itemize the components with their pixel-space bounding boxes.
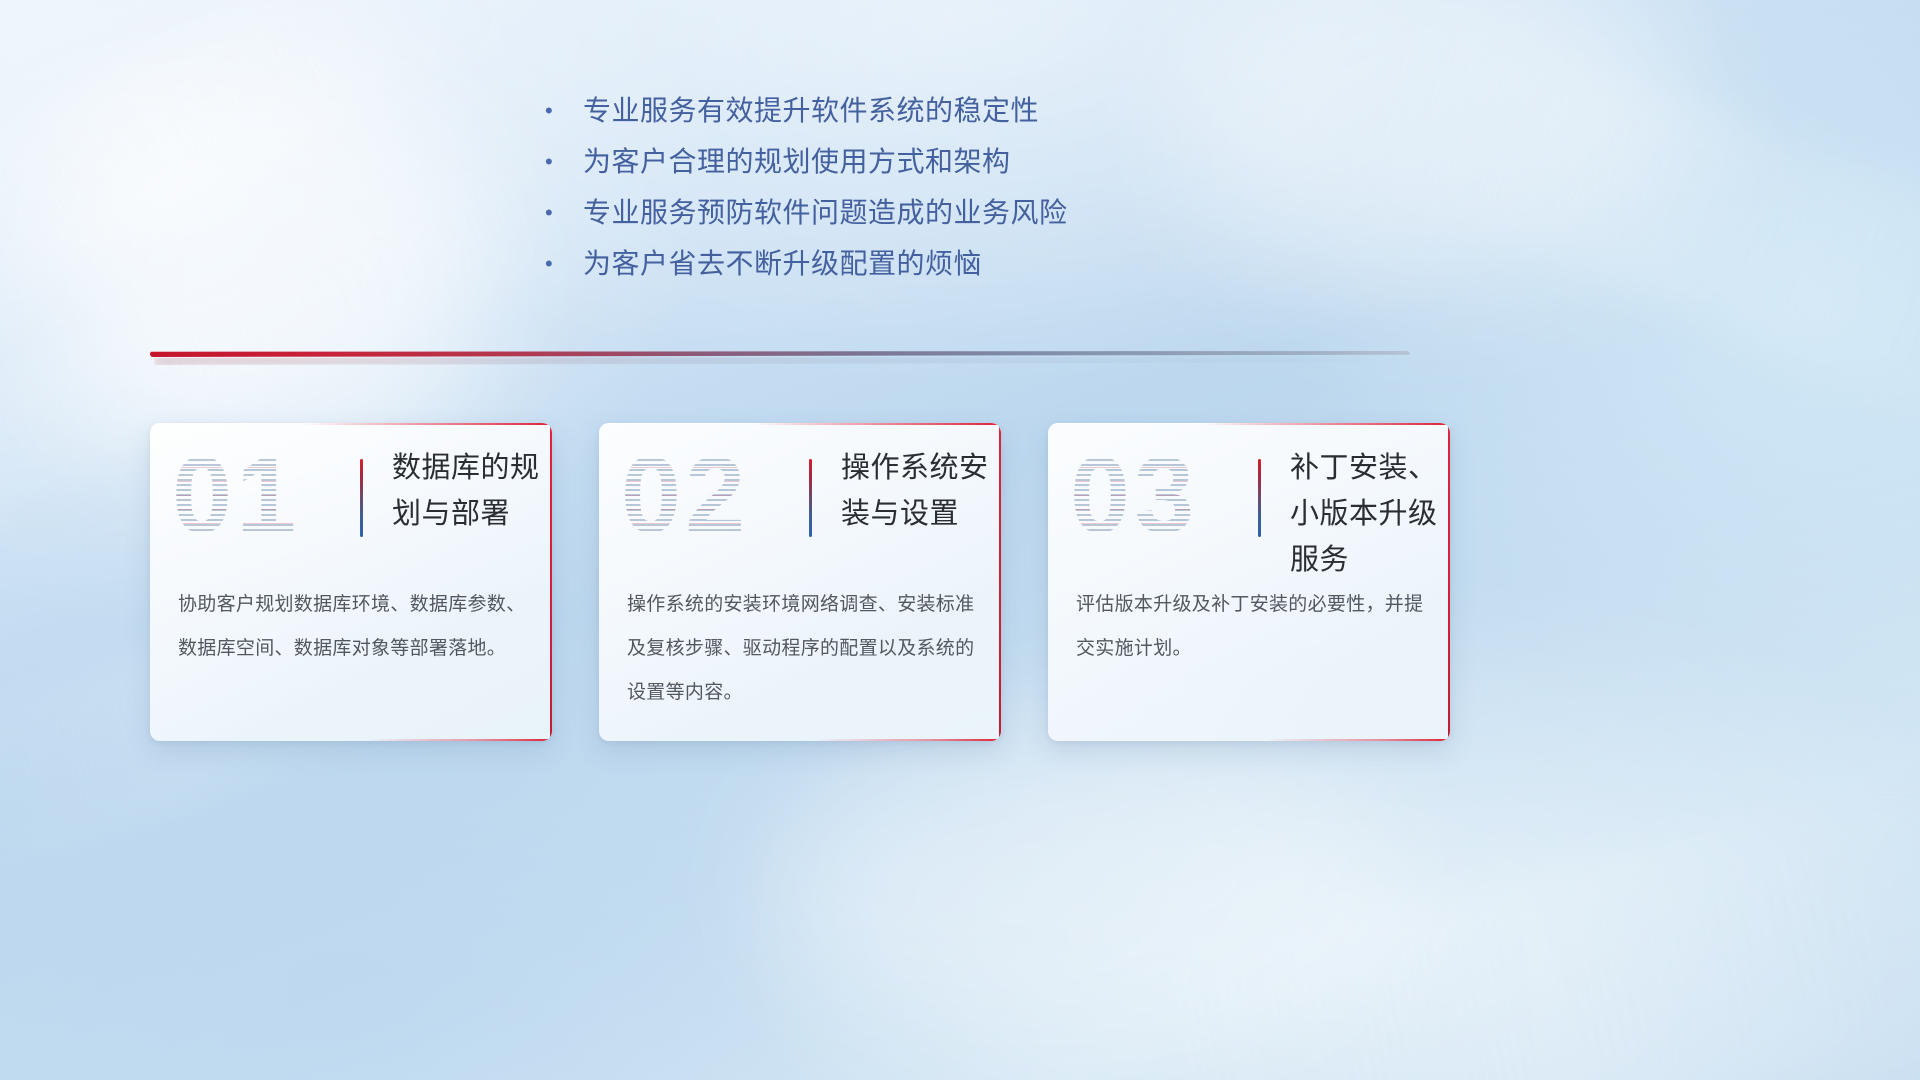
bullet-dot-icon: • — [545, 194, 565, 232]
card-number-tint: 01 — [172, 439, 300, 551]
service-card-group: 01 01 数据库的规划与部署 协助客户规划数据库环境、数据库参数、数据库空间、… — [150, 423, 1450, 743]
card-header: 02 02 操作系统安装与设置 — [599, 423, 1001, 573]
card-description: 操作系统的安装环境网络调查、安装标准及复核步骤、驱动程序的配置以及系统的设置等内… — [627, 583, 975, 715]
light-streak — [0, 0, 534, 346]
card-title-divider — [360, 459, 363, 537]
list-item-label: 专业服务预防软件问题造成的业务风险 — [565, 194, 1068, 232]
bullet-dot-icon: • — [545, 245, 565, 283]
bullet-dot-icon: • — [545, 92, 565, 130]
card-number-tint: 02 — [621, 439, 749, 551]
card-accent-bottom — [1265, 739, 1450, 741]
list-item: • 为客户省去不断升级配置的烦恼 — [545, 245, 1185, 296]
list-item-label: 为客户省去不断升级配置的烦恼 — [565, 245, 982, 283]
background-glow-bottom — [760, 720, 1400, 1050]
slide-canvas: • 专业服务有效提升软件系统的稳定性 • 为客户合理的规划使用方式和架构 • 专… — [0, 0, 1920, 1080]
card-accent-bottom — [367, 739, 552, 741]
list-item: • 为客户合理的规划使用方式和架构 — [545, 143, 1185, 194]
bullet-dot-icon: • — [545, 143, 565, 181]
light-streak — [1330, 0, 1920, 455]
list-item: • 专业服务预防软件问题造成的业务风险 — [545, 194, 1185, 245]
card-title: 数据库的规划与部署 — [392, 445, 542, 537]
card-accent-bottom — [816, 739, 1001, 741]
card-title: 补丁安装、小版本升级服务 — [1290, 445, 1440, 583]
service-card-02[interactable]: 02 02 操作系统安装与设置 操作系统的安装环境网络调查、安装标准及复核步骤、… — [599, 423, 1001, 741]
divider-shadow — [154, 357, 1401, 365]
card-title-divider — [1258, 459, 1261, 537]
service-card-01[interactable]: 01 01 数据库的规划与部署 协助客户规划数据库环境、数据库参数、数据库空间、… — [150, 423, 552, 741]
divider-line — [150, 351, 1410, 357]
list-item: • 专业服务有效提升软件系统的稳定性 — [545, 92, 1185, 143]
card-header: 03 03 补丁安装、小版本升级服务 — [1048, 423, 1450, 573]
card-title: 操作系统安装与设置 — [841, 445, 991, 537]
service-card-03[interactable]: 03 03 补丁安装、小版本升级服务 评估版本升级及补丁安装的必要性，并提交实施… — [1048, 423, 1450, 741]
section-divider — [150, 345, 1410, 367]
light-streak — [1123, 769, 1920, 1080]
card-description: 协助客户规划数据库环境、数据库参数、数据库空间、数据库对象等部署落地。 — [178, 583, 526, 671]
card-header: 01 01 数据库的规划与部署 — [150, 423, 552, 573]
card-number-tint: 03 — [1070, 439, 1198, 551]
list-item-label: 专业服务有效提升软件系统的稳定性 — [565, 92, 1039, 130]
background-glow-top-right — [1180, 0, 1700, 300]
card-description: 评估版本升级及补丁安装的必要性，并提交实施计划。 — [1076, 583, 1424, 671]
list-item-label: 为客户合理的规划使用方式和架构 — [565, 143, 1011, 181]
benefits-bullet-list: • 专业服务有效提升软件系统的稳定性 • 为客户合理的规划使用方式和架构 • 专… — [545, 92, 1185, 296]
card-title-divider — [809, 459, 812, 537]
